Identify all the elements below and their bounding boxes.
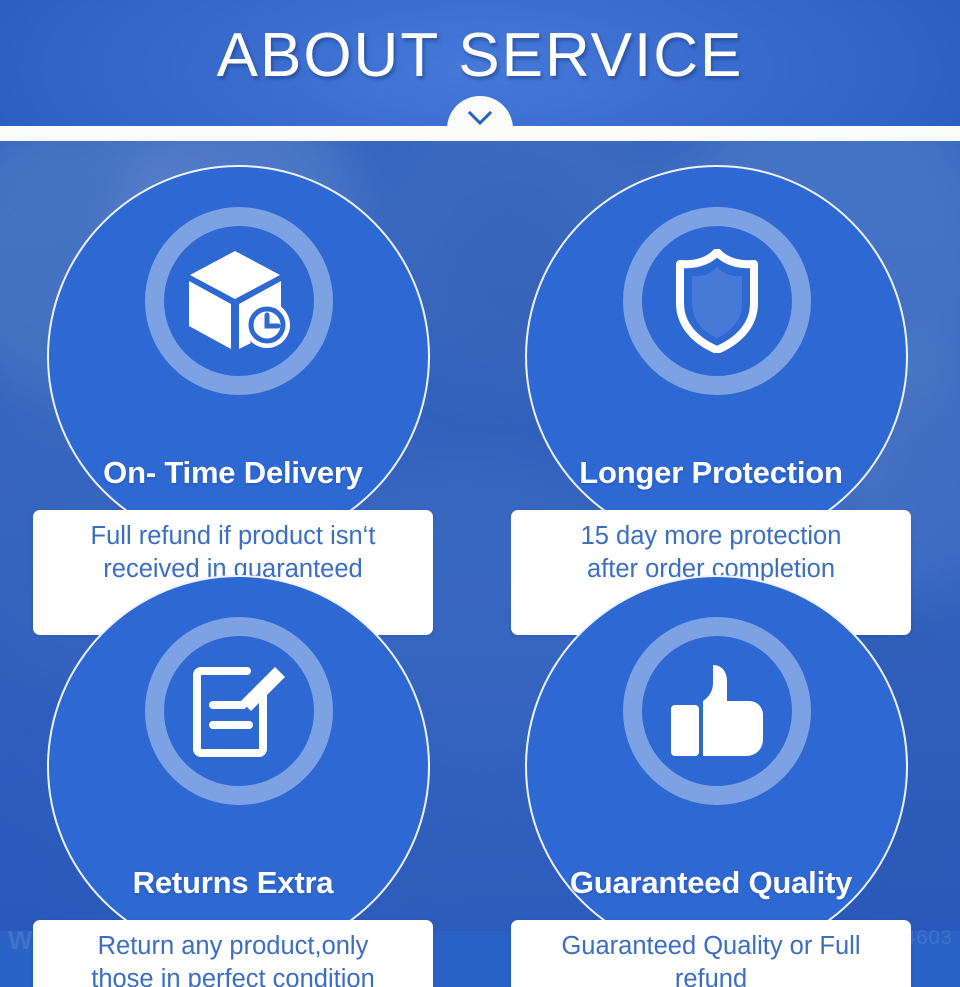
card-title: Returns Extra xyxy=(18,863,448,903)
page-title: ABOUT SERVICE xyxy=(0,17,960,95)
card-description-box: Guaranteed Quality or Full refund xyxy=(511,920,911,987)
shield-icon xyxy=(623,207,811,395)
service-card-guaranteed-quality[interactable]: Guaranteed Quality Guaranteed Quality or… xyxy=(496,575,926,985)
document-edit-icon xyxy=(145,617,333,805)
service-card-grid: On- Time Delivery Full refund if product… xyxy=(0,141,960,987)
chevron-down-icon xyxy=(468,110,492,126)
service-card-on-time-delivery[interactable]: On- Time Delivery Full refund if product… xyxy=(18,165,448,575)
service-card-returns-extra[interactable]: Returns Extra Return any product,only th… xyxy=(18,575,448,985)
card-description-box: Return any product,only those in perfect… xyxy=(33,920,433,987)
package-clock-icon xyxy=(145,207,333,395)
card-description: Return any product,only those in perfect… xyxy=(91,930,375,987)
card-title: Guaranteed Quality xyxy=(496,863,926,903)
thumbs-up-icon xyxy=(623,617,811,805)
service-card-longer-protection[interactable]: Longer Protection 15 day more protection… xyxy=(496,165,926,575)
about-service-banner: ABOUT SERVICE WTP 134603 xyxy=(0,0,960,987)
card-title: On- Time Delivery xyxy=(18,453,448,493)
card-title: Longer Protection xyxy=(496,453,926,493)
card-description: Guaranteed Quality or Full refund xyxy=(561,930,860,987)
